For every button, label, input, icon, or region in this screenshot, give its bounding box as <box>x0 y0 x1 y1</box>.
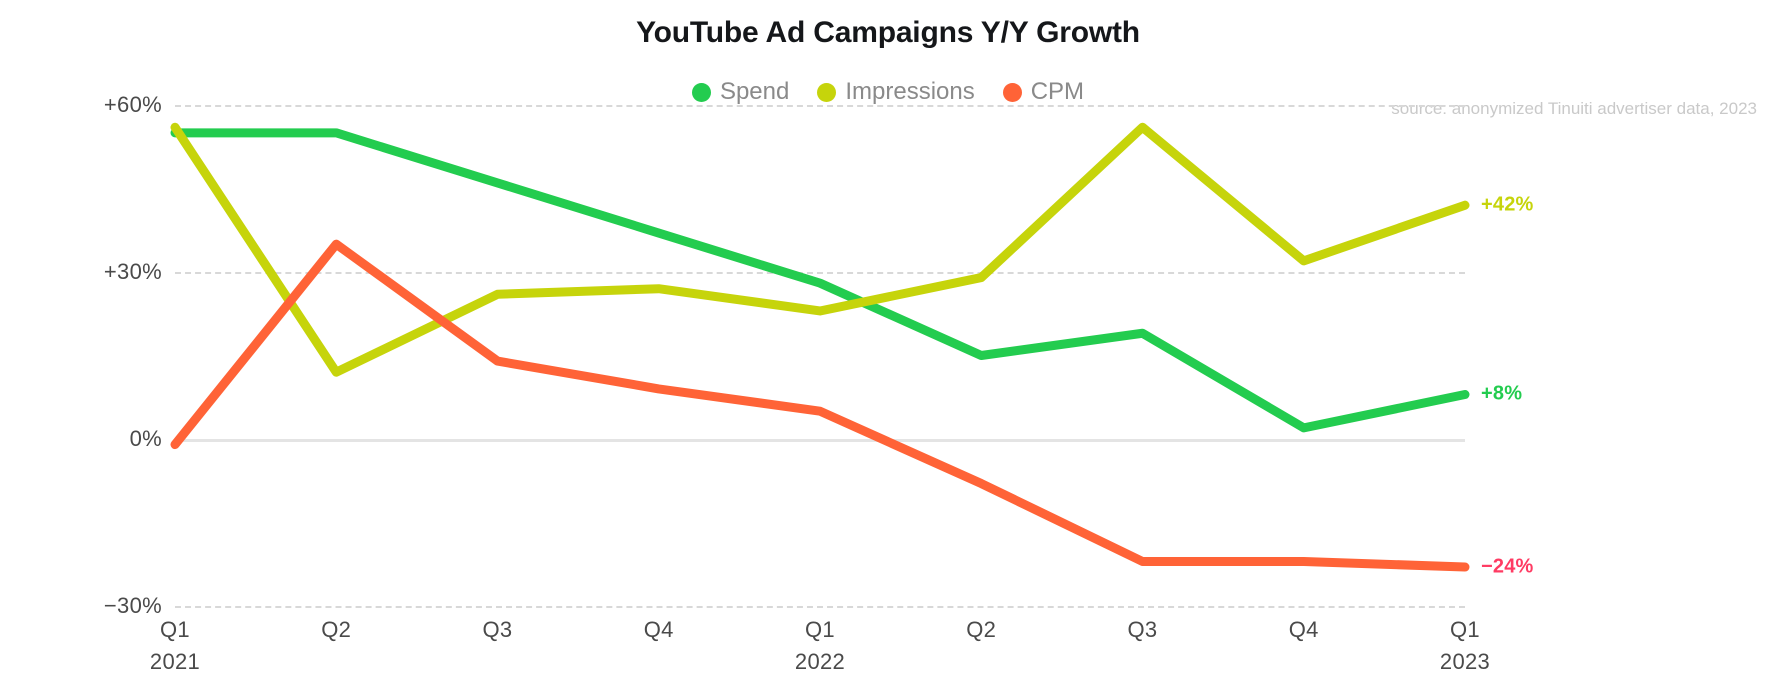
legend-dot-icon <box>1003 83 1022 102</box>
x-axis-quarter: Q4 <box>1289 617 1319 642</box>
x-axis-label: Q12021 <box>150 617 200 675</box>
x-axis-label: Q2 <box>321 617 351 643</box>
x-axis-label: Q4 <box>1289 617 1319 643</box>
legend-dot-icon <box>692 83 711 102</box>
legend-label: Spend <box>720 78 789 106</box>
series-lines <box>175 105 1465 606</box>
end-label-spend: +8% <box>1481 383 1522 406</box>
x-axis-label: Q12022 <box>795 617 845 675</box>
chart-container: YouTube Ad Campaigns Y/Y Growth SpendImp… <box>0 0 1776 694</box>
x-axis-year: 2021 <box>150 649 200 675</box>
x-axis-label: Q12023 <box>1440 617 1490 675</box>
series-line-spend <box>175 133 1465 428</box>
x-axis-label: Q3 <box>1128 617 1158 643</box>
legend-item-impressions[interactable]: Impressions <box>803 78 988 106</box>
x-axis-quarter: Q4 <box>644 617 674 642</box>
legend-item-spend[interactable]: Spend <box>678 78 803 106</box>
series-line-impressions <box>175 127 1465 372</box>
end-label-cpm: −24% <box>1481 556 1534 579</box>
x-axis-label: Q4 <box>644 617 674 643</box>
legend-label: CPM <box>1031 78 1084 106</box>
legend-item-cpm[interactable]: CPM <box>989 78 1098 106</box>
x-axis-label: Q3 <box>483 617 513 643</box>
x-axis-quarter: Q1 <box>160 617 190 642</box>
x-axis-year: 2022 <box>795 649 845 675</box>
y-axis-label: 0% <box>130 426 162 452</box>
legend-label: Impressions <box>845 78 974 106</box>
x-axis-quarter: Q1 <box>1450 617 1480 642</box>
x-axis-quarter: Q3 <box>1128 617 1158 642</box>
y-axis-label: +60% <box>104 92 162 118</box>
gridline-30 <box>175 606 1465 608</box>
x-axis-quarter: Q2 <box>966 617 996 642</box>
x-axis-label: Q2 <box>966 617 996 643</box>
x-axis-quarter: Q3 <box>483 617 513 642</box>
y-axis-label: +30% <box>104 259 162 285</box>
plot-area <box>175 105 1465 606</box>
x-axis-year: 2023 <box>1440 649 1490 675</box>
y-axis-label: −30% <box>104 593 162 619</box>
chart-title: YouTube Ad Campaigns Y/Y Growth <box>0 16 1776 50</box>
x-axis-quarter: Q1 <box>805 617 835 642</box>
x-axis-quarter: Q2 <box>321 617 351 642</box>
legend-dot-icon <box>817 83 836 102</box>
end-label-impressions: +42% <box>1481 194 1534 217</box>
